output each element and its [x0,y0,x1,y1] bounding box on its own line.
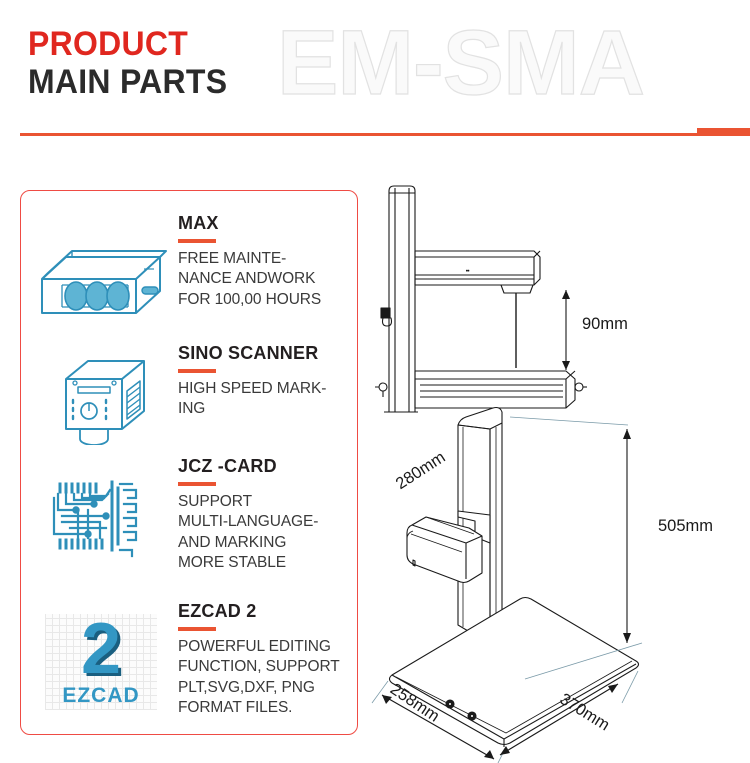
feature-title-ezcad: EZCAD 2 [178,601,353,622]
feature-rule-max [178,239,216,243]
feature-desc-line: SUPPORT [178,492,353,513]
page-title: PRODUCT MAIN PARTS [28,25,240,101]
feature-rule-jcz-card [178,482,216,486]
feature-text-jcz-card: JCZ -CARD SUPPORT MULTI-LANGUAGE- AND MA… [178,456,353,574]
feature-title-jcz-card: JCZ -CARD [178,456,353,477]
header-divider-cap [697,128,750,136]
header-divider [20,133,730,136]
feature-desc-line: MORE STABLE [178,553,353,574]
page-header: EM-SMA PRODUCT MAIN PARTS [0,0,750,150]
features-panel: MAX FREE MAINTE- NANCE ANDWORK FOR 100,0… [20,190,358,735]
feature-rule-ezcad [178,627,216,631]
dimension-label-total-height: 505mm [658,517,713,536]
feature-desc-sino-scanner: HIGH SPEED MARK- ING [178,379,353,420]
feature-desc-line: MULTI-LANGUAGE- [178,512,353,533]
feature-title-sino-scanner: SINO SCANNER [178,343,353,364]
feature-desc-line: FUNCTION, SUPPORT [178,657,353,678]
laser-source-icon [31,235,171,324]
galvo-scanner-icon [31,353,171,450]
dimension-label-focus-height: 90mm [582,315,628,334]
feature-desc-jcz-card: SUPPORT MULTI-LANGUAGE- AND MARKING MORE… [178,492,353,574]
circuit-board-icon [31,464,171,569]
ezcad-logo-word: EZCAD [45,684,157,708]
ezcad-logo-digit: 2 [45,610,157,688]
laser-marker-side-view: .. [370,175,750,435]
feature-desc-line: FREE MAINTE- [178,249,353,270]
feature-desc-line: NANCE ANDWORK [178,269,353,290]
feature-desc-line: FORMAT FILES. [178,698,353,719]
feature-desc-line: ING [178,399,353,420]
feature-text-max: MAX FREE MAINTE- NANCE ANDWORK FOR 100,0… [178,213,353,310]
svg-text:..: .. [466,267,470,273]
title-line-product: PRODUCT [28,25,227,63]
feature-desc-line: FOR 100,00 HOURS [178,290,353,311]
feature-text-sino-scanner: SINO SCANNER HIGH SPEED MARK- ING [178,343,353,420]
feature-rule-sino-scanner [178,369,216,373]
watermark-text: EM-SMA [277,17,644,109]
feature-desc-line: HIGH SPEED MARK- [178,379,353,400]
feature-desc-line: AND MARKING [178,533,353,554]
feature-title-max: MAX [178,213,353,234]
feature-desc-line: POWERFUL EDITING [178,637,353,658]
feature-text-ezcad: EZCAD 2 POWERFUL EDITING FUNCTION, SUPPO… [178,601,353,719]
technical-drawing: .. 90mm [370,175,750,750]
feature-desc-ezcad: POWERFUL EDITING FUNCTION, SUPPORT PLT,S… [178,637,353,719]
ezcad-logo-tile: 2 EZCAD [45,614,157,710]
ezcad-logo-icon: 2 EZCAD [31,614,171,710]
title-line-main-parts: MAIN PARTS [28,63,227,101]
feature-desc-max: FREE MAINTE- NANCE ANDWORK FOR 100,00 HO… [178,249,353,311]
feature-desc-line: PLT,SVG,DXF, PNG [178,678,353,699]
